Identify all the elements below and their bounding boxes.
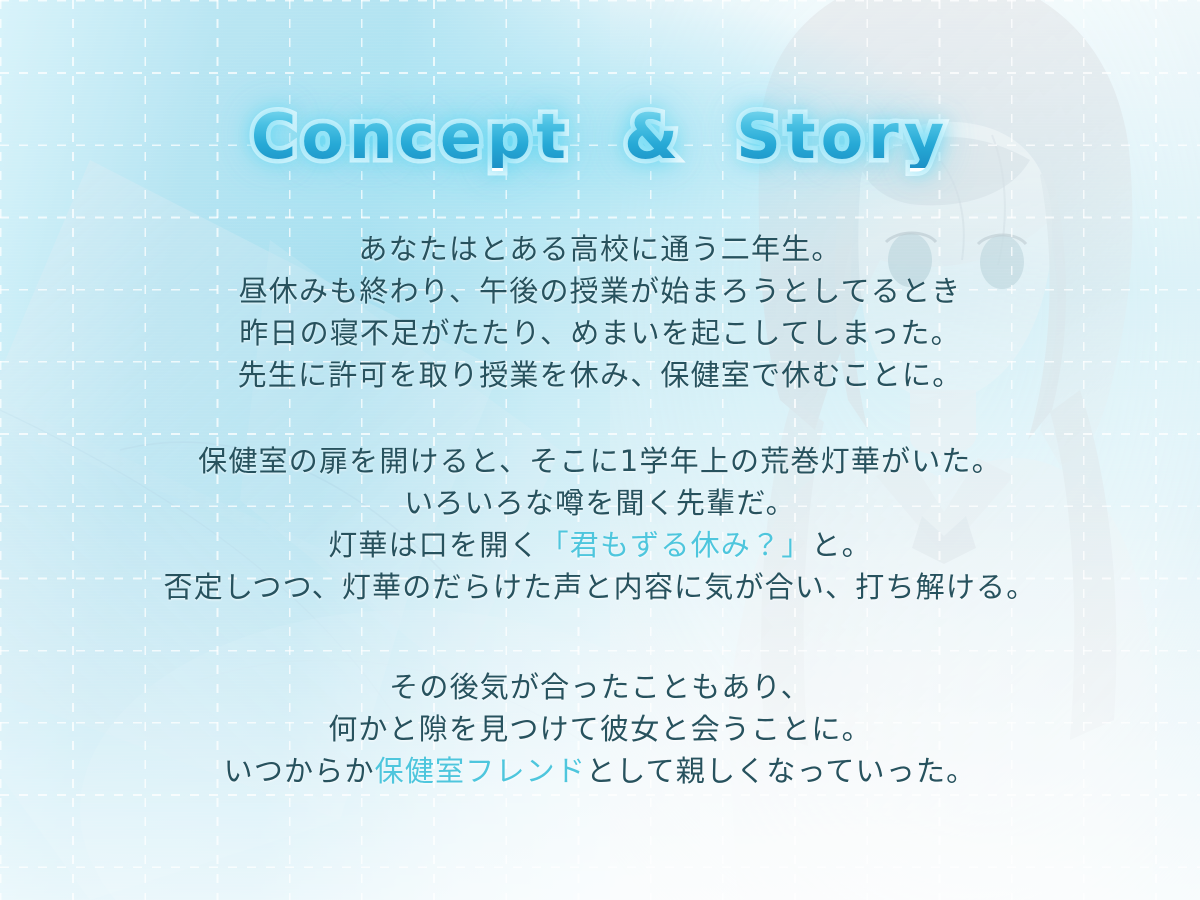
story-text: 否定しつつ、灯華のだらけた声と内容に気が合い、打ち解ける。 [164, 570, 1037, 604]
content-root: Concept & Story Concept & Story あなたはとある高… [0, 0, 1200, 900]
story-line: その後気が合ったこともあり、 [0, 666, 1200, 708]
story-line: 否定しつつ、灯華のだらけた声と内容に気が合い、打ち解ける。 [0, 566, 1200, 608]
story-line: 昼休みも終わり、午後の授業が始まろうとしてるとき [0, 270, 1200, 312]
story-text: 灯華は口を開く [328, 528, 539, 562]
story-text: あなたはとある高校に通う二年生。 [358, 232, 841, 266]
story-text: いろいろな噂を聞く先輩だ。 [404, 486, 796, 520]
story-text: 先生に許可を取り授業を休み、保健室で休むことに。 [238, 358, 963, 392]
concept-story-page: Concept & Story Concept & Story あなたはとある高… [0, 0, 1200, 900]
story-text: 昼休みも終わり、午後の授業が始まろうとしてるとき [239, 274, 962, 308]
story-text: いつからか [224, 754, 375, 788]
story-text: その後気が合ったこともあり、 [389, 670, 811, 704]
page-title-text: Concept & Story [251, 106, 949, 168]
highlighted-phrase: 「君もずる休み？」 [540, 528, 812, 562]
story-line: あなたはとある高校に通う二年生。 [0, 228, 1200, 270]
story-text: 何かと隙を見つけて彼女と会うことに。 [328, 712, 872, 746]
story-paragraph-after: その後気が合ったこともあり、何かと隙を見つけて彼女と会うことに。いつからか保健室… [0, 666, 1200, 792]
story-line: 保健室の扉を開けると、そこに1学年上の荒巻灯華がいた。 [0, 440, 1200, 482]
story-line: 何かと隙を見つけて彼女と会うことに。 [0, 708, 1200, 750]
story-text: として親しくなっていった。 [586, 754, 976, 788]
story-line: 昨日の寝不足がたたり、めまいを起こしてしまった。 [0, 312, 1200, 354]
story-line: 灯華は口を開く「君もずる休み？」と。 [0, 524, 1200, 566]
highlighted-phrase: 保健室フレンド [375, 754, 586, 788]
story-line: 先生に許可を取り授業を休み、保健室で休むことに。 [0, 354, 1200, 396]
story-paragraph-intro: あなたはとある高校に通う二年生。昼休みも終わり、午後の授業が始まろうとしてるとき… [0, 228, 1200, 396]
story-paragraph-encounter: 保健室の扉を開けると、そこに1学年上の荒巻灯華がいた。いろいろな噂を聞く先輩だ。… [0, 440, 1200, 608]
story-line: いつからか保健室フレンドとして親しくなっていった。 [0, 750, 1200, 792]
story-line: いろいろな噂を聞く先輩だ。 [0, 482, 1200, 524]
story-text: 昨日の寝不足がたたり、めまいを起こしてしまった。 [239, 316, 961, 350]
page-title: Concept & Story [0, 106, 1200, 168]
story-text: と。 [811, 528, 871, 562]
story-text: 保健室の扉を開けると、そこに1学年上の荒巻灯華がいた。 [198, 444, 1002, 478]
